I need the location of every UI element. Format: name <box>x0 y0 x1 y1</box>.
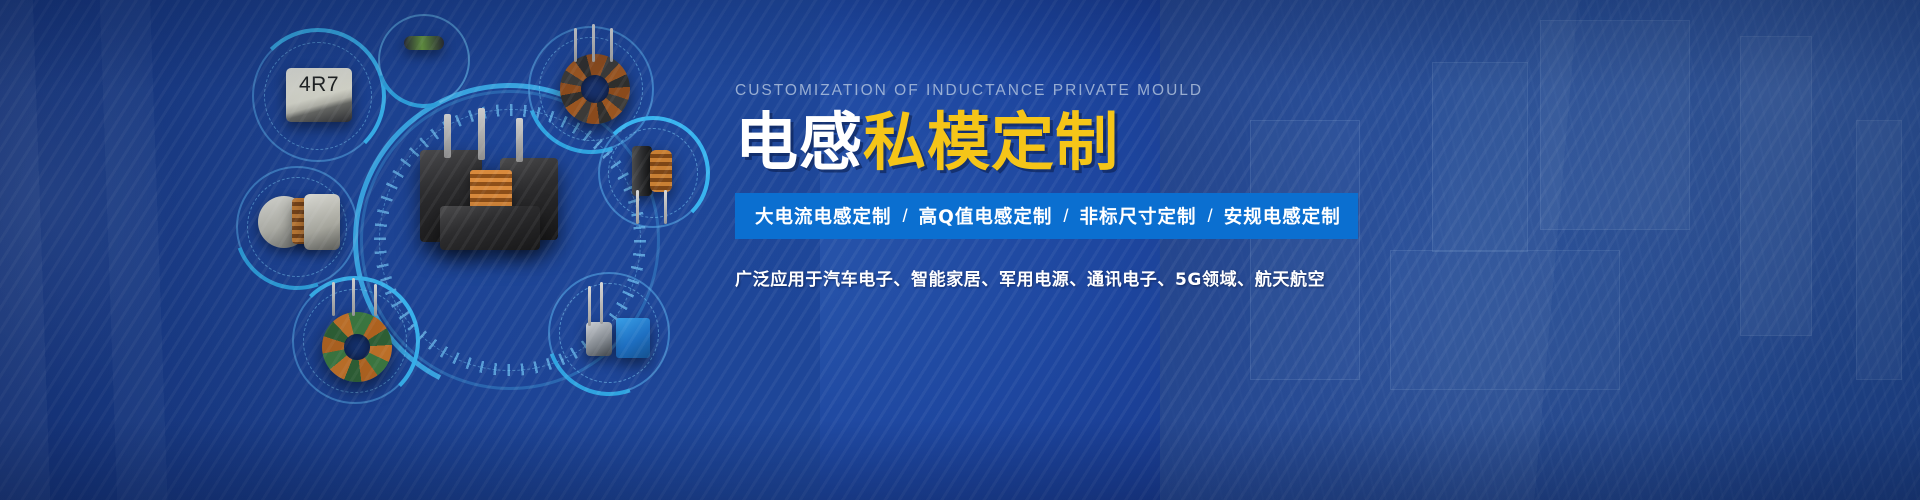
product-label-4r7: 4R7 <box>299 73 339 97</box>
product-green-toroid-choke <box>322 312 392 382</box>
headline-yellow-part: 私模定制 <box>863 106 1119 179</box>
product-chip-inductor-4r7: 4R7 <box>286 68 352 122</box>
product-choke-body <box>586 322 612 356</box>
component-lead <box>352 278 355 316</box>
feature-bar: 大电流电感定制 / 高Q值电感定制 / 非标尺寸定制 / 安规电感定制 <box>735 193 1358 239</box>
component-lead <box>588 286 591 326</box>
machinery-silhouette <box>1432 62 1528 252</box>
component-lead <box>444 114 451 158</box>
banner-eyebrow-text: CUSTOMIZATION OF INDUCTANCE PRIVATE MOUL… <box>735 82 1375 100</box>
component-lead <box>574 28 577 62</box>
feature-item-1: 大电流电感定制 <box>755 203 892 229</box>
machinery-silhouette <box>1390 250 1620 390</box>
product-blue-radial-choke <box>616 318 650 358</box>
feature-separator-1: / <box>892 205 919 227</box>
component-lead <box>610 28 613 62</box>
feature-separator-2: / <box>1052 205 1079 227</box>
component-lead <box>636 190 639 224</box>
feature-item-4: 安规电感定制 <box>1224 203 1341 229</box>
banner-headline: 电感私模定制 <box>735 110 1375 177</box>
product-axial-inductor <box>404 36 444 50</box>
banner-description: 广泛应用于汽车电子、智能家居、军用电源、通讯电子、5G领域、航天航空 <box>735 265 1375 290</box>
component-lead <box>332 282 335 316</box>
product-inductor-base <box>440 206 540 250</box>
product-toroid-choke <box>560 54 630 124</box>
machinery-silhouette <box>1540 20 1690 230</box>
component-lead <box>600 282 603 324</box>
component-lead <box>592 24 595 62</box>
product-ferrite-disc <box>304 194 340 250</box>
product-bobbin-core <box>632 146 652 196</box>
component-lead <box>374 284 377 316</box>
machinery-silhouette <box>1856 120 1902 380</box>
headline-white-part: 电感 <box>735 106 863 179</box>
machinery-silhouette <box>1740 36 1812 336</box>
product-coil-winding <box>650 150 672 192</box>
feature-item-3: 非标尺寸定制 <box>1080 203 1197 229</box>
promo-banner: 4R7 <box>0 0 1920 500</box>
component-lead <box>664 190 667 224</box>
feature-item-2: 高Q值电感定制 <box>919 203 1053 229</box>
component-lead <box>478 108 485 160</box>
feature-separator-3: / <box>1197 205 1224 227</box>
component-lead <box>516 118 523 162</box>
banner-content: CUSTOMIZATION OF INDUCTANCE PRIVATE MOUL… <box>735 82 1375 290</box>
